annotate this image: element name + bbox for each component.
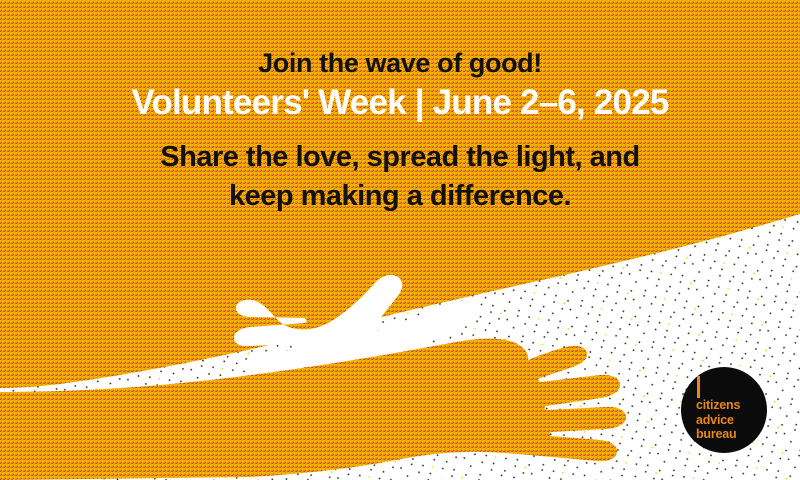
logo-bar-mark-icon <box>697 376 700 398</box>
tagline-line-1: Share the love, spread the light, and <box>0 138 800 177</box>
headline-text-block: Join the wave of good! Volunteers' Week … <box>0 46 800 216</box>
subheadline-dates: Volunteers' Week | June 2–6, 2025 <box>0 80 800 126</box>
volunteers-week-banner: Join the wave of good! Volunteers' Week … <box>0 0 800 480</box>
headline: Join the wave of good! <box>0 46 800 80</box>
logo-line-citizens: citizens <box>696 398 760 413</box>
tagline-line-2: keep making a difference. <box>0 177 800 216</box>
logo-wordmark: citizens advice bureau <box>696 398 760 442</box>
logo-line-advice: advice <box>696 413 760 428</box>
logo-line-bureau: bureau <box>696 427 760 442</box>
citizens-advice-bureau-logo[interactable]: citizens advice bureau <box>681 367 767 453</box>
